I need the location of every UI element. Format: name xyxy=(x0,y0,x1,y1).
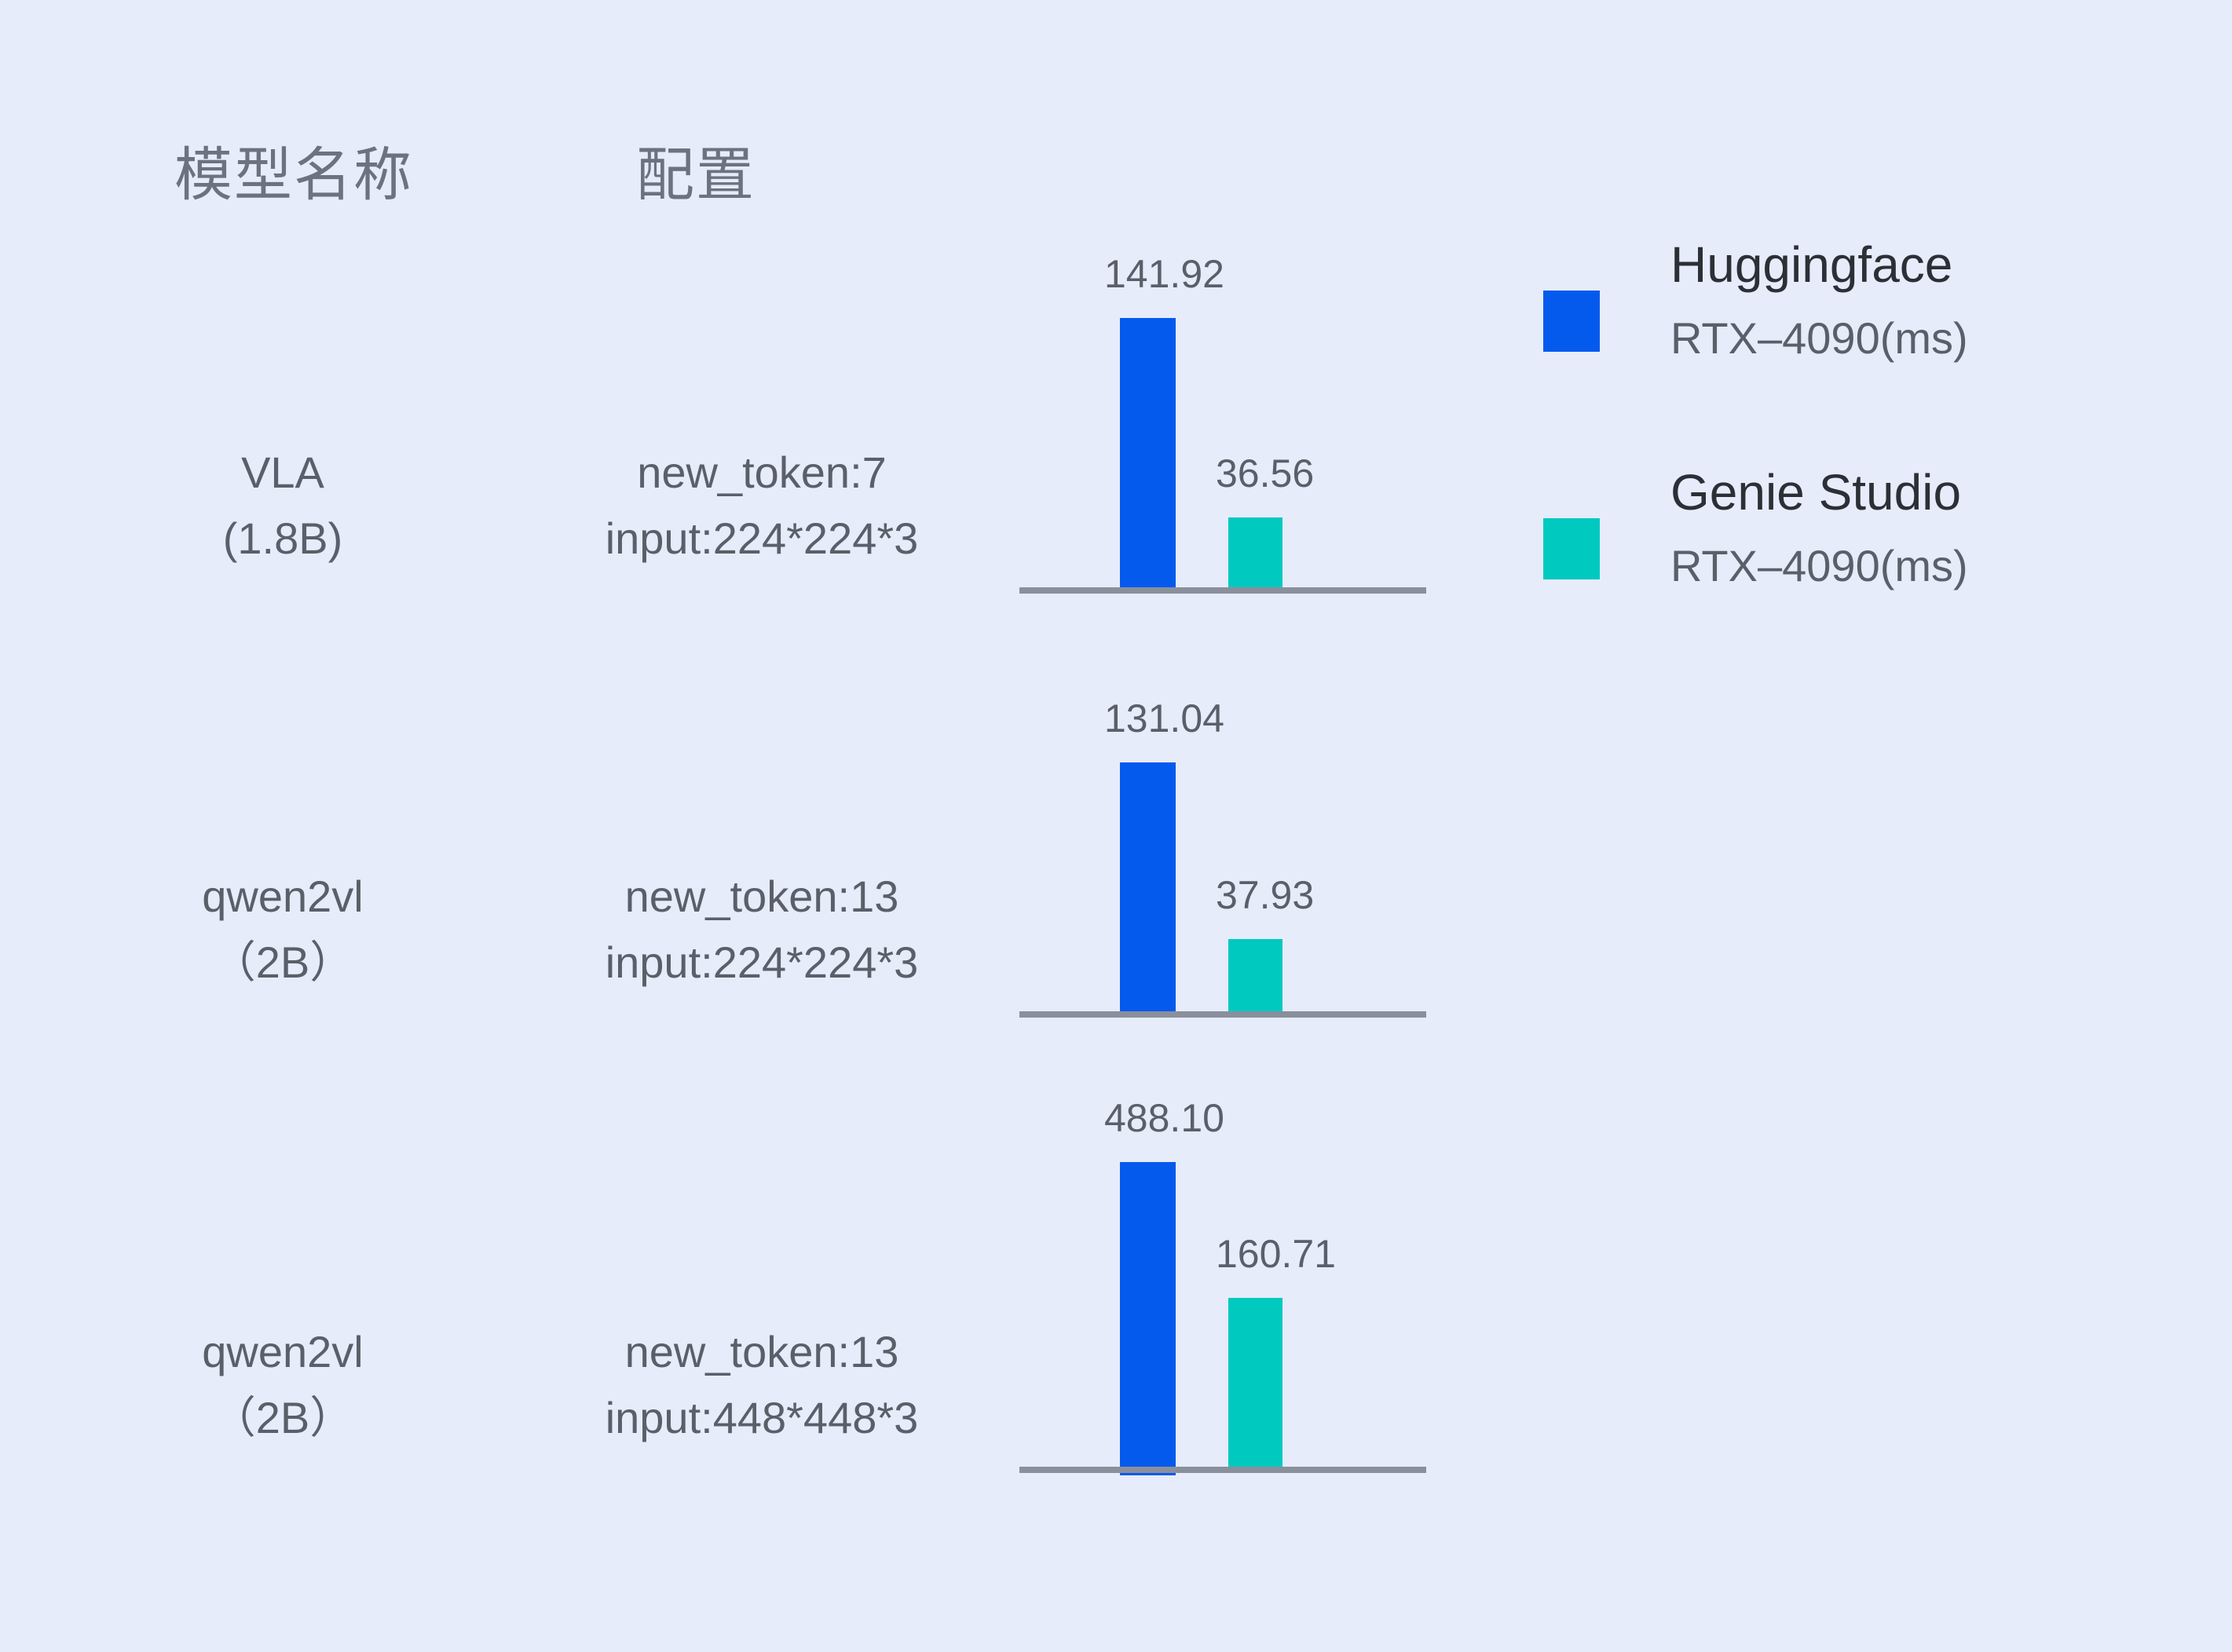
model-name-line1: qwen2vl xyxy=(202,872,363,921)
model-name-cell: VLA (1.8B) xyxy=(94,440,471,572)
legend-subtitle: RTX–4090(ms) xyxy=(1670,540,1968,591)
bar-chart-panel: 488.10 160.71 xyxy=(1019,1131,1426,1473)
config-cell: new_token:13 input:224*224*3 xyxy=(471,864,1052,996)
axis-baseline xyxy=(1019,1467,1426,1473)
bar-huggingface xyxy=(1120,1162,1176,1475)
axis-baseline xyxy=(1019,1011,1426,1018)
bar-value-label-huggingface: 141.92 xyxy=(1104,251,1224,297)
config-line1: new_token:13 xyxy=(625,872,899,921)
bar-value-label-huggingface: 131.04 xyxy=(1104,696,1224,741)
config-line2: input:224*224*3 xyxy=(471,506,1052,572)
config-cell: new_token:13 input:448*448*3 xyxy=(471,1319,1052,1451)
column-header-config: 配置 xyxy=(636,128,756,212)
column-header-model-name: 模型名称 xyxy=(174,128,413,212)
config-cell: new_token:7 input:224*224*3 xyxy=(471,440,1052,572)
legend-swatch-icon xyxy=(1543,518,1600,579)
bar-huggingface xyxy=(1120,318,1176,587)
legend-swatch-icon xyxy=(1543,291,1600,352)
legend-item-huggingface[interactable]: Huggingface RTX–4090(ms) xyxy=(1543,236,2093,463)
bar-chart-panel: 141.92 36.56 xyxy=(1019,259,1426,594)
model-name-cell: qwen2vl （2B） xyxy=(94,1319,471,1451)
legend-title: Huggingface xyxy=(1670,236,1952,294)
legend-item-genie-studio[interactable]: Genie Studio RTX–4090(ms) xyxy=(1543,463,2093,691)
config-line2: input:224*224*3 xyxy=(471,930,1052,996)
bar-genie-studio xyxy=(1228,1298,1282,1467)
benchmark-comparison-chart: 模型名称 配置 VLA (1.8B) new_token:7 input:224… xyxy=(0,0,2232,1652)
bar-chart-panel: 131.04 37.93 xyxy=(1019,683,1426,1018)
config-line1: new_token:13 xyxy=(625,1327,899,1376)
bar-value-label-genie-studio: 36.56 xyxy=(1216,451,1314,496)
bar-value-label-genie-studio: 37.93 xyxy=(1216,872,1314,918)
legend-title: Genie Studio xyxy=(1670,463,1961,521)
model-name-line1: VLA xyxy=(241,448,324,497)
bar-genie-studio xyxy=(1228,939,1282,1011)
bar-huggingface xyxy=(1120,762,1176,1011)
axis-baseline xyxy=(1019,587,1426,594)
model-name-line2: （2B） xyxy=(94,1385,471,1451)
config-line2: input:448*448*3 xyxy=(471,1385,1052,1451)
model-name-line2: （2B） xyxy=(94,930,471,996)
bar-genie-studio xyxy=(1228,517,1282,587)
config-line1: new_token:7 xyxy=(637,448,887,497)
bar-value-label-huggingface: 488.10 xyxy=(1104,1095,1224,1141)
model-name-cell: qwen2vl （2B） xyxy=(94,864,471,996)
model-name-line2: (1.8B) xyxy=(94,506,471,572)
chart-legend: Huggingface RTX–4090(ms) Genie Studio RT… xyxy=(1543,236,2093,691)
legend-subtitle: RTX–4090(ms) xyxy=(1670,312,1968,364)
bar-value-label-genie-studio: 160.71 xyxy=(1216,1231,1336,1277)
model-name-line1: qwen2vl xyxy=(202,1327,363,1376)
